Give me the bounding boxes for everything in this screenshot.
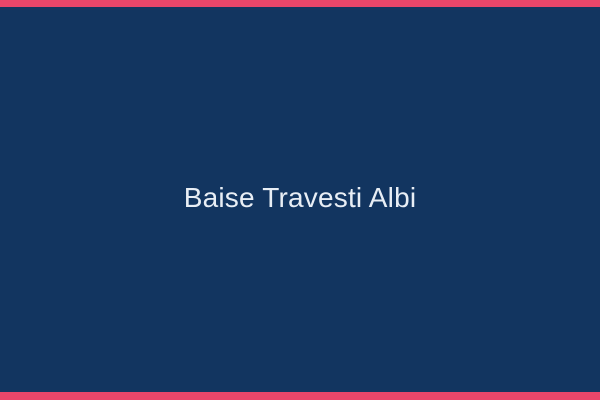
banner-card: Baise Travesti Albi bbox=[0, 0, 600, 400]
top-accent-bar bbox=[0, 0, 600, 7]
bottom-accent-bar bbox=[0, 392, 600, 400]
banner-title: Baise Travesti Albi bbox=[184, 181, 417, 215]
banner-content-area: Baise Travesti Albi bbox=[0, 7, 600, 392]
